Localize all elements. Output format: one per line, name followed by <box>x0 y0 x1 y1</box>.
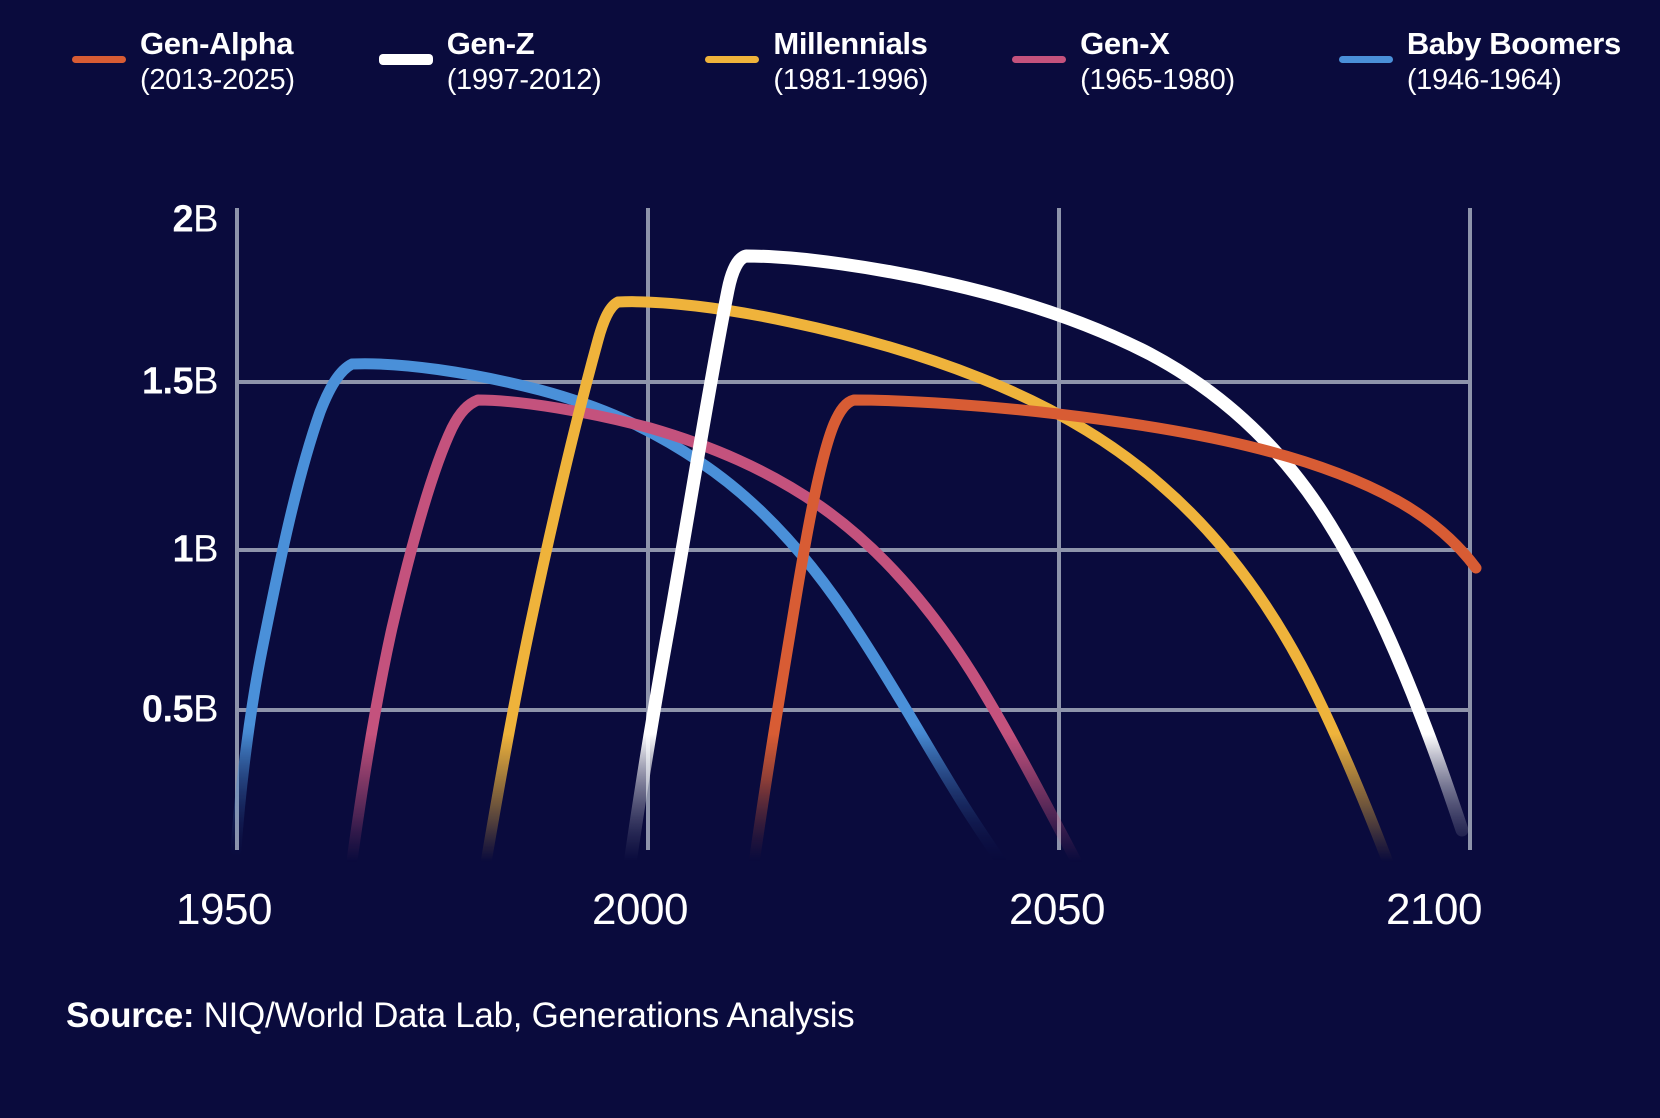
chart-page: Gen-Alpha (2013-2025) Gen-Z (1997-2012) … <box>0 0 1660 1118</box>
source-value: NIQ/World Data Lab, Generations Analysis <box>194 996 854 1035</box>
y-tick-2B: 2B <box>173 199 219 242</box>
source-label: Source: <box>66 996 194 1035</box>
series-line-gen-x <box>348 400 1160 880</box>
legend-item-millennials[interactable]: Millennials (1981-1996) <box>705 26 928 97</box>
legend-swatch-millennials <box>705 56 759 63</box>
legend-text-gen-x: Gen-X (1965-1980) <box>1080 26 1235 97</box>
legend-years-gen-z: (1997-2012) <box>447 63 602 97</box>
chart-svg <box>0 150 1660 880</box>
legend-name-millennials: Millennials <box>773 26 928 63</box>
legend-name-baby-boomers: Baby Boomers <box>1407 26 1621 63</box>
chart-plot-area <box>0 150 1660 880</box>
legend-item-baby-boomers[interactable]: Baby Boomers (1946-1964) <box>1339 26 1621 97</box>
legend-text-millennials: Millennials (1981-1996) <box>773 26 928 97</box>
legend-name-gen-z: Gen-Z <box>447 26 602 63</box>
series-line-millennials <box>478 302 1462 880</box>
x-tick-2050: 2050 <box>1009 885 1105 935</box>
legend-swatch-gen-x <box>1012 56 1066 63</box>
legend-item-gen-z[interactable]: Gen-Z (1997-2012) <box>379 26 602 97</box>
legend-text-gen-z: Gen-Z (1997-2012) <box>447 26 602 97</box>
legend-item-gen-x[interactable]: Gen-X (1965-1980) <box>1012 26 1235 97</box>
x-axis-labels: 1950 2000 2050 2100 <box>0 885 1660 945</box>
x-tick-2000: 2000 <box>592 885 688 935</box>
legend-name-gen-x: Gen-X <box>1080 26 1235 63</box>
legend-years-gen-x: (1965-1980) <box>1080 63 1235 97</box>
legend-text-gen-alpha: Gen-Alpha (2013-2025) <box>140 26 295 97</box>
source-caption: Source: NIQ/World Data Lab, Generations … <box>66 996 854 1036</box>
legend-years-gen-alpha: (2013-2025) <box>140 63 295 97</box>
y-tick-1.5B: 1.5B <box>142 361 218 404</box>
legend-years-millennials: (1981-1996) <box>773 63 928 97</box>
y-axis-labels: 2B 1.5B 1B 0.5B <box>60 150 218 880</box>
legend-swatch-baby-boomers <box>1339 56 1393 63</box>
legend-swatch-gen-z <box>379 54 433 65</box>
chart-legend: Gen-Alpha (2013-2025) Gen-Z (1997-2012) … <box>72 26 1612 118</box>
x-tick-2100: 2100 <box>1386 885 1482 935</box>
x-tick-1950: 1950 <box>176 885 272 935</box>
y-tick-1B: 1B <box>173 529 219 572</box>
legend-swatch-gen-alpha <box>72 56 126 63</box>
legend-years-baby-boomers: (1946-1964) <box>1407 63 1621 97</box>
series-line-baby-boomers <box>236 364 1014 880</box>
legend-text-baby-boomers: Baby Boomers (1946-1964) <box>1407 26 1621 97</box>
y-tick-0.5B: 0.5B <box>142 689 218 732</box>
legend-item-gen-alpha[interactable]: Gen-Alpha (2013-2025) <box>72 26 295 97</box>
legend-name-gen-alpha: Gen-Alpha <box>140 26 295 63</box>
